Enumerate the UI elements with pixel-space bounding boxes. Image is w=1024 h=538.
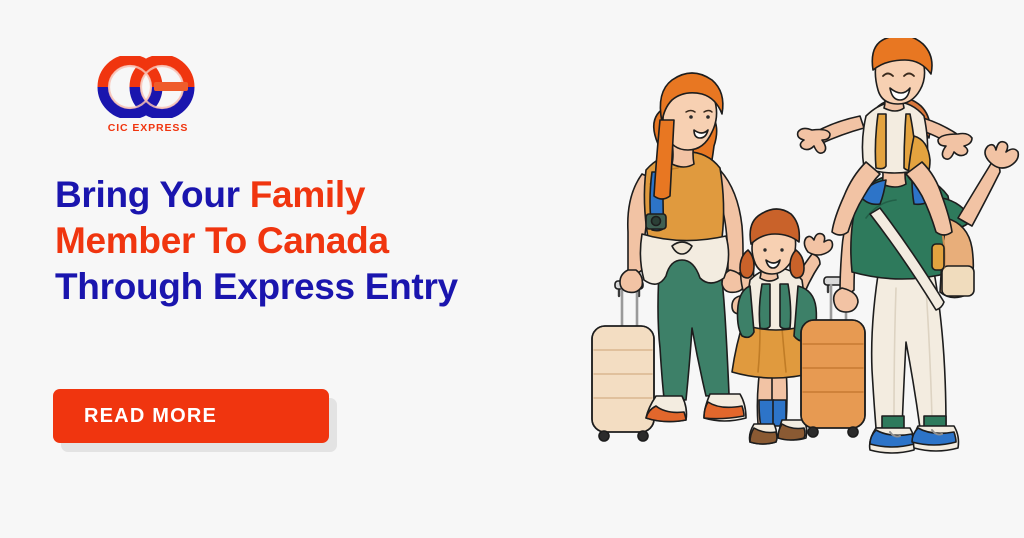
headline-line-1-red: Family <box>250 174 365 215</box>
brand-wordmark: CIC EXPRESS <box>92 122 204 134</box>
brand-logo[interactable]: CIC EXPRESS <box>92 56 204 142</box>
headline-line-3: Through Express Entry <box>55 264 575 310</box>
headline-line-1-navy: Bring Your <box>55 174 250 215</box>
mother-suitcase <box>592 281 654 441</box>
page-title: Bring Your Family Member To Canada Throu… <box>55 172 575 310</box>
read-more-button[interactable]: READ MORE <box>53 389 329 443</box>
cic-express-logo-icon <box>92 56 204 118</box>
family-travellers-illustration <box>560 38 1024 468</box>
headline-line-1: Bring Your Family <box>55 172 575 218</box>
read-more-button-wrapper: READ MORE <box>53 389 329 443</box>
promo-banner: CIC EXPRESS Bring Your Family Member To … <box>0 0 1024 538</box>
headline-line-2: Member To Canada <box>55 218 575 264</box>
